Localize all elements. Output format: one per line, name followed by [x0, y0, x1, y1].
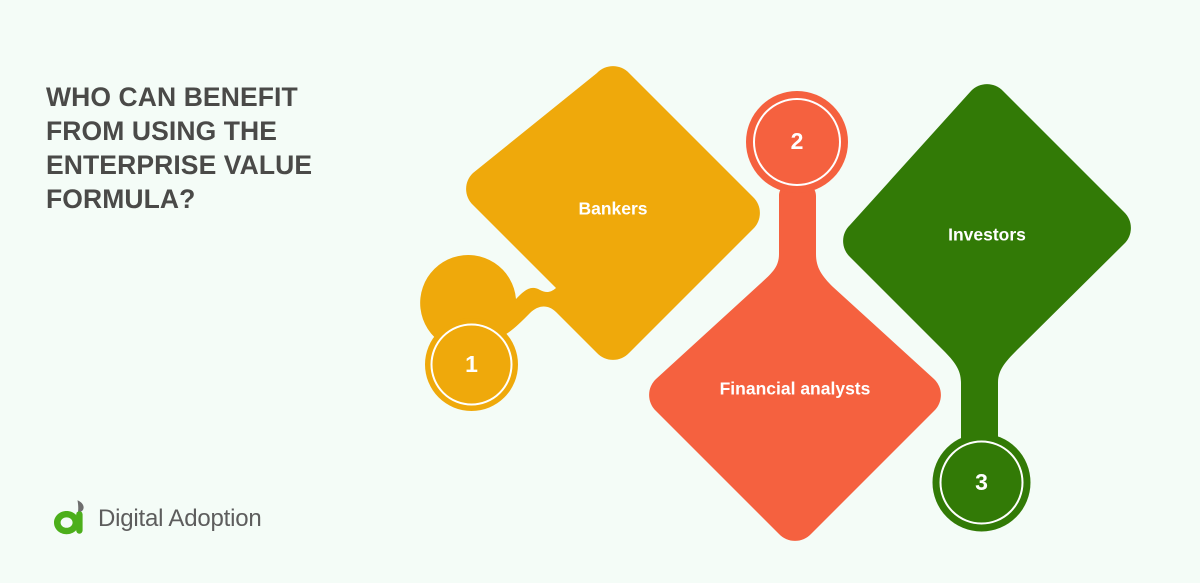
node-financial-analysts-badge-number: 2	[791, 128, 804, 154]
digital-adoption-a-mark-icon	[52, 498, 90, 540]
diagram: 1 Bankers 2 Financial analysts 3 Investo…	[0, 0, 1200, 583]
logo-text: Digital Adoption	[98, 505, 262, 533]
node-investors-badge-number: 3	[975, 469, 988, 495]
node-bankers-badge-number: 1	[465, 351, 478, 377]
node-investors[interactable]: 3 Investors	[843, 84, 1131, 531]
infographic-canvas: WHO CAN BENEFIT FROM USING THE ENTERPRIS…	[0, 0, 1200, 583]
logo[interactable]: Digital Adoption	[52, 498, 262, 540]
node-financial-analysts-label: Financial analysts	[720, 379, 871, 399]
node-investors-label: Investors	[948, 225, 1026, 245]
node-bankers-label: Bankers	[578, 199, 647, 219]
